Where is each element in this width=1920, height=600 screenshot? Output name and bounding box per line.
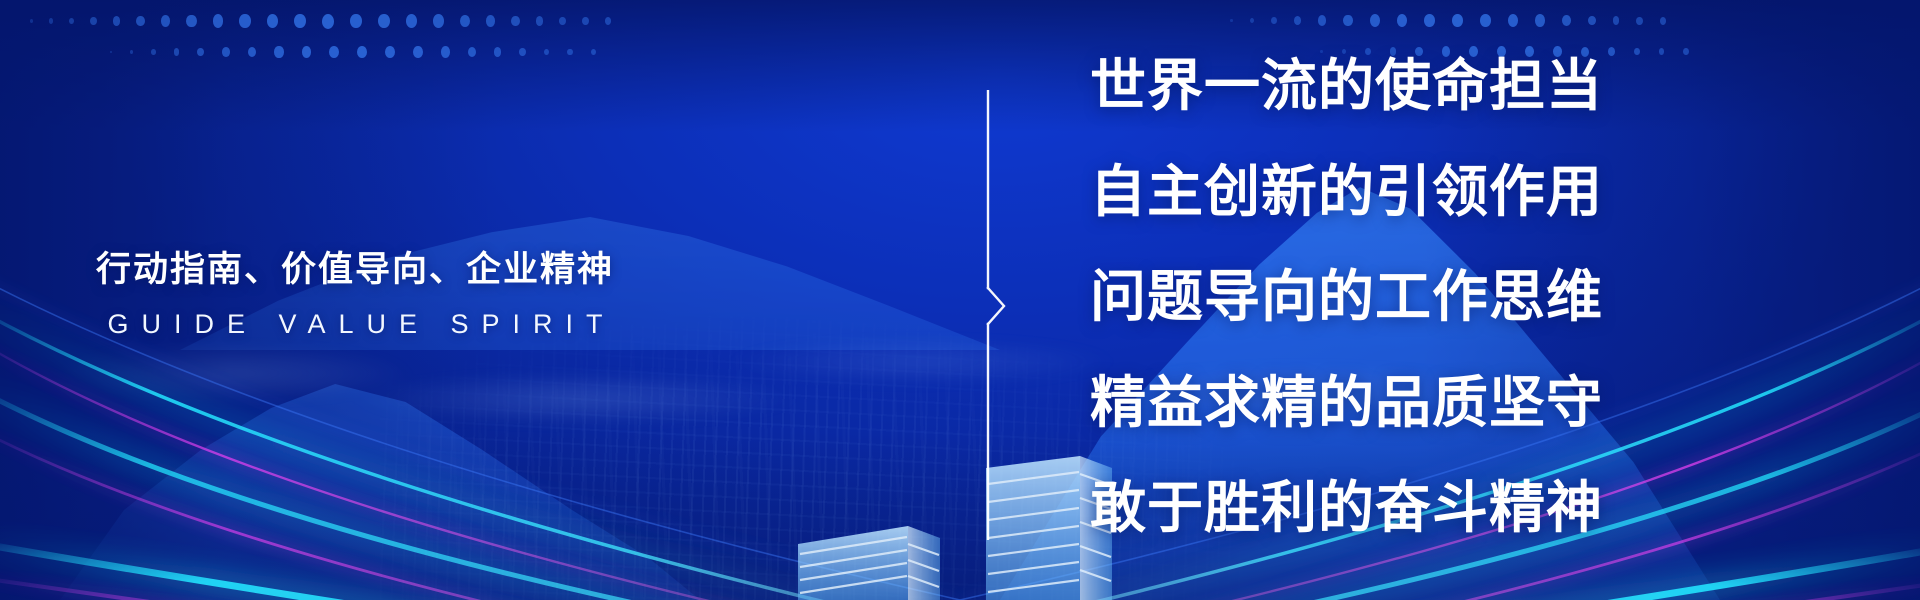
decor-dot [1294,16,1301,25]
chevron-right-icon [988,288,1004,324]
decor-dot [322,14,334,29]
decor-dot [582,17,589,26]
section-divider [985,90,1011,540]
decor-dot [302,46,312,58]
decor-dot [544,49,549,56]
decor-dot [468,47,476,57]
decor-dot [1424,14,1435,28]
left-headline-cn: 行动指南、价值导向、企业精神 [0,248,710,292]
decor-dot [460,15,470,28]
decor-dot [186,15,196,28]
decor-dot [536,16,543,25]
corporate-culture-banner: 行动指南、价值导向、企业精神 GUIDE VALUE SPIRIT 世界一流的使… [0,0,1920,600]
right-line-1: 世界一流的使命担当 [1090,58,1730,114]
decor-dot [1562,15,1571,26]
decor-dot [161,15,170,27]
right-line-2: 自主创新的引领作用 [1090,164,1730,220]
decor-dot [110,51,112,54]
decor-dot [494,47,502,56]
left-headline-en: GUIDE VALUE SPIRIT [0,308,710,340]
decor-dot [274,46,283,58]
top-right-dot-row-1 [1230,12,1666,29]
decor-dot [1370,14,1380,27]
right-line-4: 精益求精的品质坚守 [1090,375,1730,431]
decor-dot [1397,14,1408,27]
decor-dot [90,17,97,25]
decor-dot [1452,14,1463,28]
decor-dot [1535,14,1545,26]
decor-dot [267,14,279,29]
decor-dot [1660,17,1666,25]
decor-dot [406,14,417,28]
decor-dot [413,46,423,58]
decor-dot [1480,14,1491,28]
decor-dot [136,16,145,27]
right-line-3: 问题导向的工作思维 [1090,269,1730,325]
decor-dot [130,50,133,54]
decor-dot [1250,18,1254,24]
decor-dot [350,14,362,29]
decor-dot [357,46,367,59]
decor-dot [174,48,180,55]
decor-dot [222,47,230,57]
left-text-block: 行动指南、价值导向、企业精神 GUIDE VALUE SPIRIT [0,248,960,340]
decor-dot [213,14,224,28]
decor-dot [1318,15,1326,25]
decor-dot [239,14,250,28]
decor-dot [113,16,121,25]
decor-dot [486,15,495,27]
decor-dot [433,14,444,27]
building-left [798,526,940,600]
decor-dot [441,46,450,57]
decor-dot [605,17,612,26]
right-text-block: 世界一流的使命担当 自主创新的引领作用 问题导向的工作思维 精益求精的品质坚守 … [1090,50,1730,550]
decor-dot [511,16,519,27]
decor-dot [519,48,526,56]
decor-dot [248,47,257,58]
decor-dot [69,18,74,25]
decor-dot [294,14,306,29]
decor-dot [567,49,572,56]
decor-dot [559,17,566,26]
decor-dot [1343,15,1352,27]
top-left-dot-row-1 [30,12,611,30]
decor-dot [329,46,339,58]
decor-dot [197,48,204,56]
right-line-5: 敢于胜利的奋斗精神 [1090,480,1730,536]
decor-dot [1230,19,1233,23]
decor-dot [1508,14,1518,27]
decor-dot [591,49,596,56]
decor-dot [49,18,53,23]
decor-dot [378,14,390,29]
decor-dot [1636,17,1642,25]
decor-dot [151,49,156,55]
decor-dot [1613,16,1620,24]
decor-dot [385,46,395,58]
building-cluster [780,440,1140,600]
top-left-dot-row-2 [110,44,596,60]
decor-dot [30,19,33,23]
decor-dot [1588,16,1596,26]
decor-dot [1271,17,1277,24]
